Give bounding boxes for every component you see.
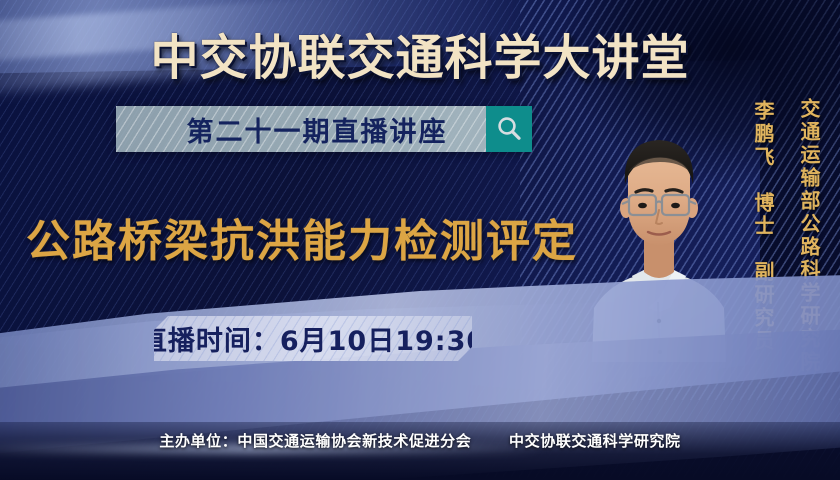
- footer-organizers: 主办单位：中国交通运输协会新技术促进分会 中交协联交通科学研究院: [0, 430, 840, 451]
- live-lecture-poster: 交通运输部公路科学研究院 李鹏飞 博士 副研究员 中交协联交通科学大讲堂 第二十…: [0, 0, 840, 480]
- live-time-text: 直播时间：6月10日19:30: [154, 319, 472, 358]
- footer-organizer-secondary: 中交协联交通科学研究院: [509, 432, 681, 450]
- series-banner: 第二十一期直播讲座: [116, 106, 532, 152]
- live-time-banner: 直播时间：6月10日19:30: [154, 316, 472, 361]
- lecture-title: 公路桥梁抗洪能力检测评定: [26, 205, 578, 269]
- search-icon[interactable]: [486, 106, 532, 152]
- page-title: 中交协联交通科学大讲堂: [0, 18, 840, 88]
- series-banner-label: 第二十一期直播讲座: [116, 110, 486, 149]
- footer-organizer-primary: 主办单位：中国交通运输协会新技术促进分会: [159, 432, 471, 450]
